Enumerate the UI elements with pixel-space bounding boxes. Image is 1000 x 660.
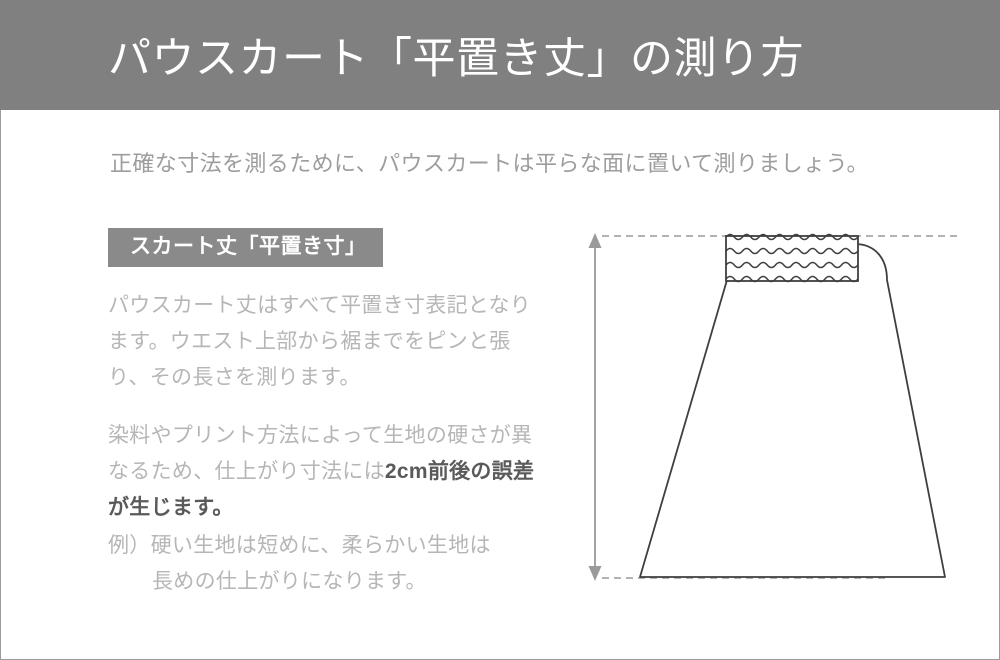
paragraph-example-line-1: 例）硬い生地は短めに、柔らかい生地は	[108, 534, 491, 557]
paragraph-flat-length-definition: パウスカート丈はすべて平置き寸表記となります。ウエスト上部から裾までをピンと張り…	[108, 288, 538, 396]
page-root: パウスカート「平置き丈」の測り方 正確な寸法を測るために、パウスカートは平らな面…	[0, 0, 1000, 660]
section-badge: スカート丈「平置き寸」	[108, 228, 383, 267]
skirt-diagram	[560, 200, 980, 610]
waistband	[726, 236, 858, 281]
header-bar: パウスカート「平置き丈」の測り方	[0, 0, 1000, 110]
page-title: パウスカート「平置き丈」の測り方	[108, 33, 804, 85]
paragraph-tolerance: 染料やプリント方法によって生地の硬さが異なるため、仕上がり寸法には2cm前後の誤…	[108, 418, 538, 526]
paragraph-example: 例）硬い生地は短めに、柔らかい生地は長めの仕上がりになります。	[108, 528, 538, 600]
intro-text: 正確な寸法を測るために、パウスカートは平らな面に置いて測りましょう。	[110, 148, 869, 180]
skirt-body	[640, 244, 945, 577]
measure-arrow	[589, 233, 602, 581]
paragraph-example-line-2: 長めの仕上がりになります。	[108, 564, 538, 600]
